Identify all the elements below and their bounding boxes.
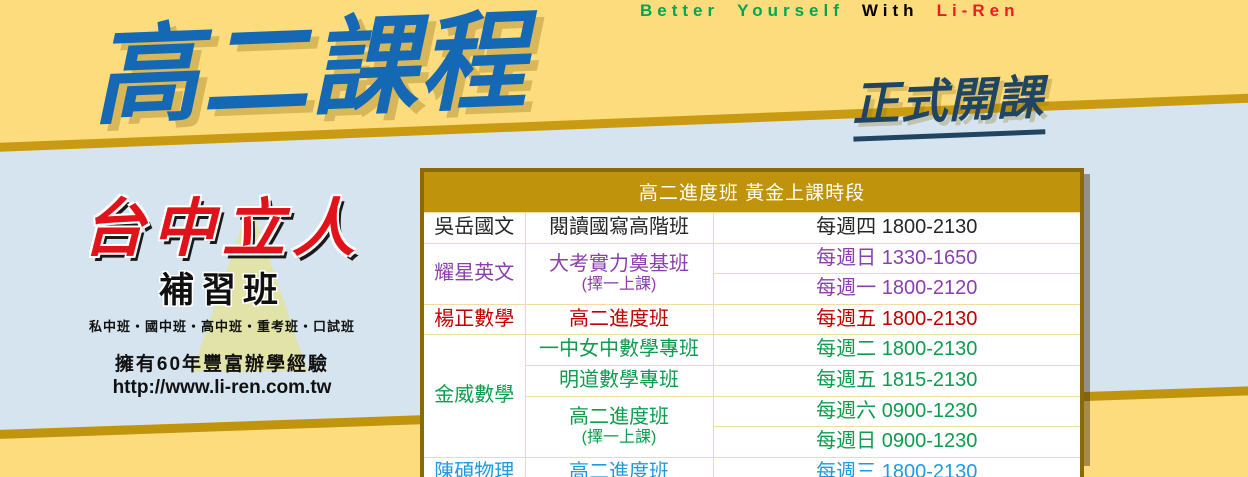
schedule-header-row: 高二進度班 黃金上課時段 bbox=[424, 172, 1080, 213]
cell-teacher: 吳岳國文 bbox=[424, 213, 525, 244]
cell-time: 每週四 1800-2130 bbox=[713, 213, 1080, 244]
logo-experience: 擁有60年豐富辦學經驗 bbox=[42, 349, 402, 376]
tagline-word-liren: Li-Ren bbox=[937, 1, 1020, 20]
cell-teacher: 耀星英文 bbox=[424, 243, 525, 304]
cell-time: 每週一 1800-2120 bbox=[713, 274, 1080, 305]
cell-time: 每週五 1815-2130 bbox=[713, 365, 1080, 396]
cell-time: 每週日 0900-1230 bbox=[713, 427, 1080, 458]
logo-class-list: 私中班・國中班・高中班・重考班・口試班 bbox=[42, 316, 402, 335]
cell-course: 閱讀國寫高階班 bbox=[525, 213, 713, 244]
tagline-word-yourself: Yourself bbox=[737, 1, 844, 20]
logo-name: 台中立人 bbox=[42, 196, 402, 260]
cell-course: 一中女中數學專班 bbox=[525, 335, 713, 366]
cell-time: 每週三 1800-2130 bbox=[713, 457, 1080, 477]
logo: 台中立人 補習班 私中班・國中班・高中班・重考班・口試班 擁有60年豐富辦學經驗… bbox=[42, 196, 402, 399]
cell-course: 高二進度班(擇一上課) bbox=[525, 396, 713, 457]
cell-course: 高二進度班 bbox=[525, 304, 713, 335]
banner-stage: BetterYourselfWithLi-Ren 高二課程 正式開課 台中立人 … bbox=[0, 0, 1248, 477]
tagline: BetterYourselfWithLi-Ren bbox=[640, 1, 1019, 21]
cell-time: 每週二 1800-2130 bbox=[713, 335, 1080, 366]
table-row: 耀星英文大考實力奠基班(擇一上課)每週日 1330-1650 bbox=[424, 243, 1080, 274]
logo-website-url[interactable]: http://www.li-ren.com.tw bbox=[42, 377, 402, 399]
cell-time: 每週日 1330-1650 bbox=[713, 243, 1080, 274]
cell-teacher: 陳碩物理 bbox=[424, 457, 525, 477]
cell-course-note: (擇一上課) bbox=[530, 276, 709, 294]
table-row: 金威數學一中女中數學專班每週二 1800-2130 bbox=[424, 335, 1080, 366]
tagline-word-better: Better bbox=[640, 1, 719, 20]
cell-course: 明道數學專班 bbox=[525, 365, 713, 396]
page-subtitle: 正式開課 bbox=[851, 58, 1046, 141]
table-row: 吳岳國文閱讀國寫高階班每週四 1800-2130 bbox=[424, 213, 1080, 244]
cell-teacher: 楊正數學 bbox=[424, 304, 525, 335]
table-row: 陳碩物理高二進度班每週三 1800-2130 bbox=[424, 457, 1080, 477]
schedule-body: 吳岳國文閱讀國寫高階班每週四 1800-2130耀星英文大考實力奠基班(擇一上課… bbox=[424, 213, 1080, 477]
table-row: 楊正數學高二進度班每週五 1800-2130 bbox=[424, 304, 1080, 335]
tagline-word-with: With bbox=[862, 1, 919, 20]
schedule-table: 高二進度班 黃金上課時段 吳岳國文閱讀國寫高階班每週四 1800-2130耀星英… bbox=[424, 172, 1080, 477]
cell-time: 每週六 0900-1230 bbox=[713, 396, 1080, 427]
page-title: 高二課程 bbox=[90, 6, 530, 135]
cell-course: 大考實力奠基班(擇一上課) bbox=[525, 243, 713, 304]
schedule-header-title: 高二進度班 黃金上課時段 bbox=[424, 172, 1080, 213]
cell-course: 高二進度班 bbox=[525, 457, 713, 477]
schedule-table-container: 高二進度班 黃金上課時段 吳岳國文閱讀國寫高階班每週四 1800-2130耀星英… bbox=[420, 168, 1084, 477]
cell-teacher: 金威數學 bbox=[424, 335, 525, 457]
cell-time: 每週五 1800-2130 bbox=[713, 304, 1080, 335]
cell-course-note: (擇一上課) bbox=[530, 429, 709, 447]
logo-type: 補習班 bbox=[42, 262, 402, 313]
